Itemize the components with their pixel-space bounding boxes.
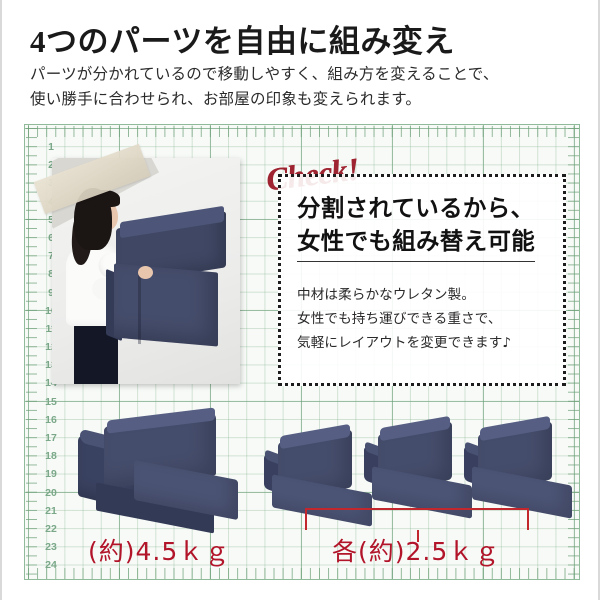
subtitle-line-1: パーツが分かれているので移動しやすく、組み方を変えることで、 [30,62,575,87]
callout-body-line-1: 中材は柔らかなウレタン製。 [297,283,559,307]
ruler-number: 15 [38,393,64,411]
weight-label-sub: 各(約)2.5ｋｇ [332,532,500,568]
ruler-bottom-ticks [24,568,580,579]
ruler-top-ticks [24,126,580,137]
ruler-number: 24 [38,556,64,574]
callout-body-line-3: 気軽にレイアウトを変更できます♪ [297,331,559,355]
product-feature-panel: 4つのパーツを自由に組み変え パーツが分かれているので移動しやすく、組み方を変え… [0,0,600,600]
grouping-bracket [305,508,529,530]
callout-body: 中材は柔らかなウレタン製。 女性でも持ち運びできる重さで、 気軽にレイアウトを変… [297,283,559,355]
ruler-number: 20 [38,484,64,502]
ruler-number: 22 [38,520,64,538]
carried-cushion [110,220,228,342]
callout-headline-line-1: 分割されているから、 [297,196,534,222]
callout-headline: 分割されているから、 女性でも組み替え可能 [297,193,555,262]
callout-headline-line-2: 女性でも組み替え可能 [297,226,535,262]
cushion-front-panel [114,263,218,346]
ruler-number: 25 [38,575,64,581]
callout-body-line-2: 女性でも持ち運びできる重さで、 [297,307,559,331]
ruler-right-ticks [568,124,579,580]
page-subtitle: パーツが分かれているので移動しやすく、組み方を変えることで、 使い勝手に合わせら… [30,62,575,112]
lifestyle-photo-card [40,146,240,384]
ruler-number: 18 [38,447,64,465]
page-title: 4つのパーツを自由に組み変え [30,16,455,61]
cushion-fold-line [138,270,141,344]
model-hand [138,266,153,279]
ruler-left-ticks [26,124,37,580]
subtitle-line-2: 使い勝手に合わせられ、お部屋の印象も変えられます。 [30,87,575,112]
weight-label-main: (約)4.5ｋｇ [88,532,230,568]
ruler-number: 17 [38,429,64,447]
ruler-number: 19 [38,465,64,483]
ruler-number: 16 [38,411,64,429]
callout-box: 分割されているから、 女性でも組み替え可能 中材は柔らかなウレタン製。 女性でも… [278,174,566,386]
ruler-number: 21 [38,502,64,520]
header-section: 4つのパーツを自由に組み変え パーツが分かれているので移動しやすく、組み方を変え… [2,0,600,118]
ruler-number: 23 [38,538,64,556]
